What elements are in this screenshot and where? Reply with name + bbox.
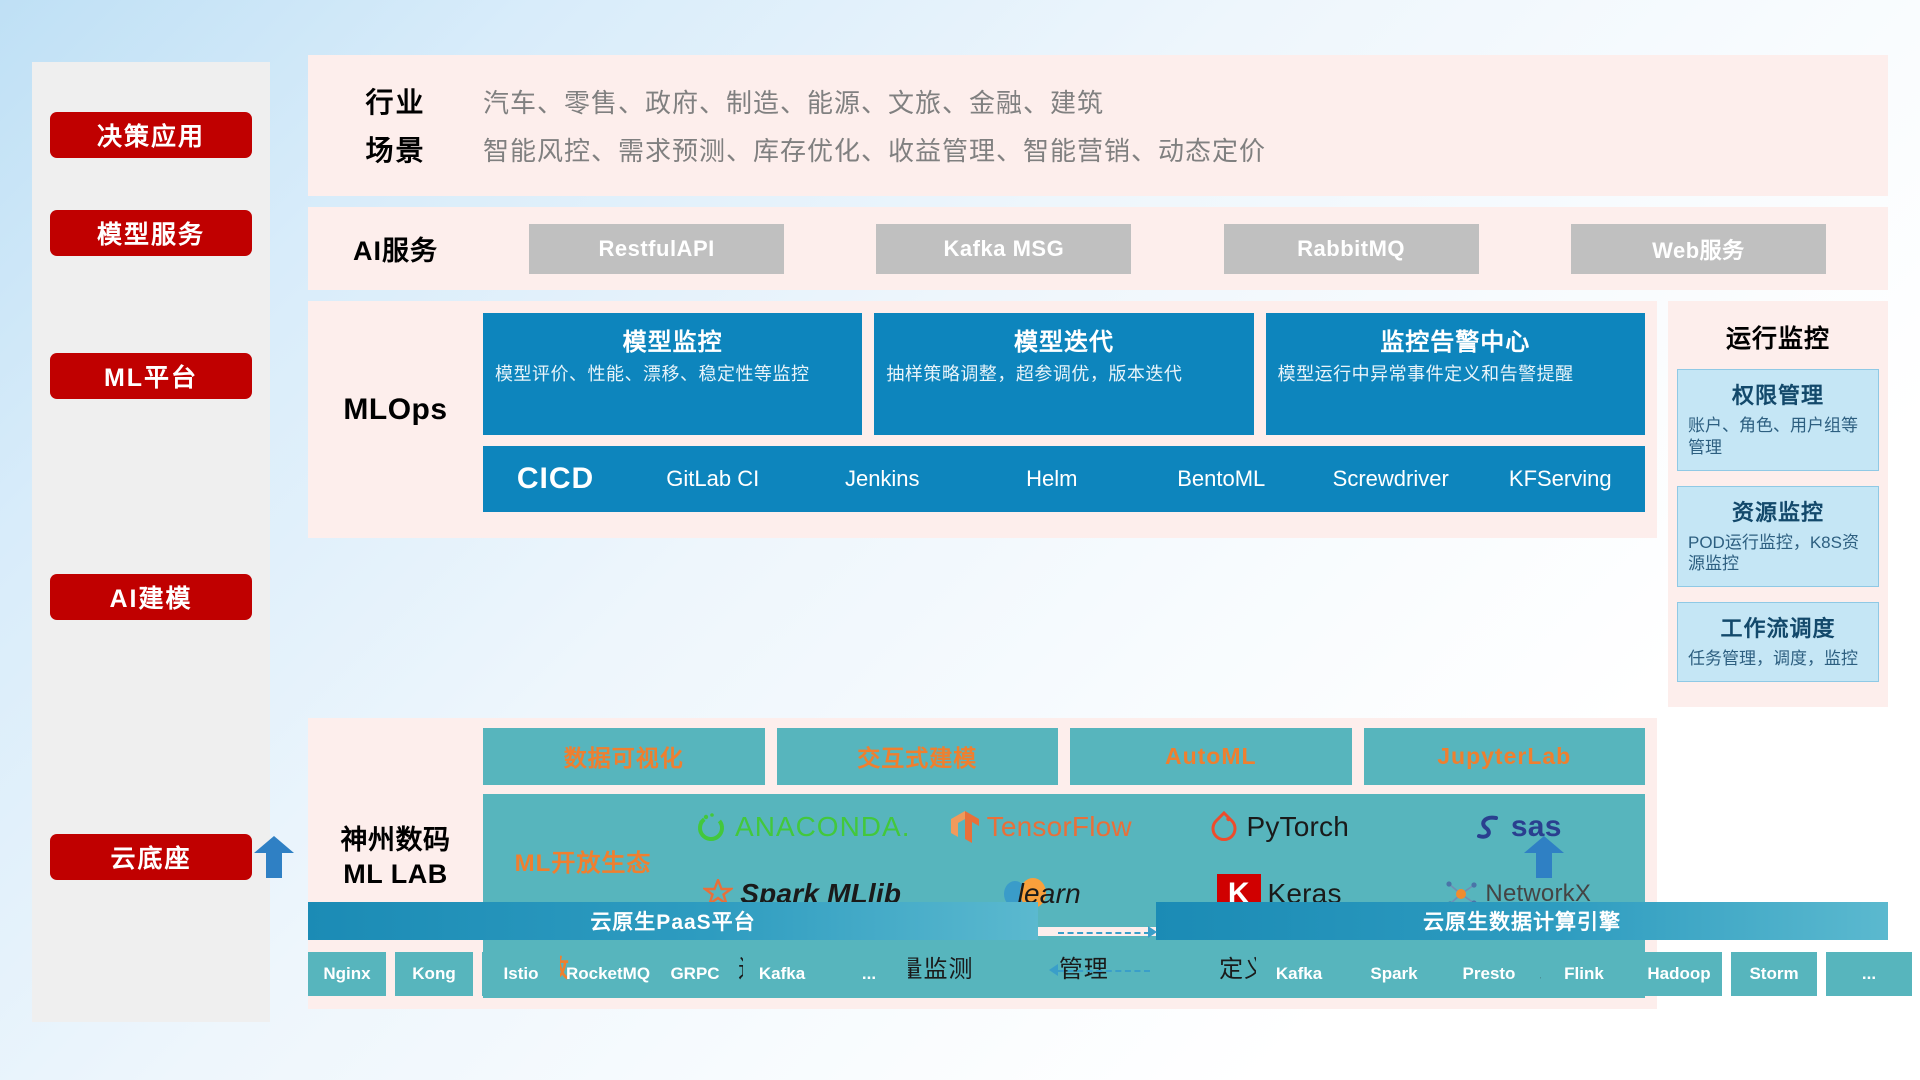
ai-service-band: AI服务 RestfulAPI Kafka MSG RabbitMQ Web服务 [308,207,1888,290]
modeling-tabs: 数据可视化 交互式建模 AutoML JupyterLab [483,728,1645,785]
decision-apps-band: 行业 汽车、零售、政府、制造、能源、文旅、金融、建筑 场景 智能风控、需求预测、… [308,55,1888,196]
card-title: 权限管理 [1688,378,1868,410]
dashed-arrow-head-left [1049,964,1058,976]
ai-service-restfulapi[interactable]: RestfulAPI [529,224,784,274]
chip-more-paas[interactable]: ... [830,952,908,996]
rail-item-label: ML平台 [104,358,198,394]
chip-spark[interactable]: Spark [1351,952,1437,996]
chip-presto[interactable]: Presto [1446,952,1532,996]
engine-chip-row: Kafka Spark Presto Flink Hadoop Storm ..… [1256,952,1912,996]
tensorflow-logo-text: TensorFlow [987,811,1132,843]
card-title: 模型迭代 [886,322,1241,357]
card-title: 监控告警中心 [1278,322,1633,357]
rail-item-model-service[interactable]: 模型服务 [50,210,252,256]
card-desc: POD运行监控，K8S资源监控 [1688,532,1868,576]
industry-label: 行业 [308,81,483,121]
scenario-values: 智能风控、需求预测、库存优化、收益管理、智能营销、动态定价 [483,131,1266,168]
sas-logo: sas [1399,810,1638,844]
ai-service-items: RestfulAPI Kafka MSG RabbitMQ Web服务 [483,224,1888,274]
chip-more-engine[interactable]: ... [1826,952,1912,996]
ml-ecosystem-label: ML开放生态 [483,843,683,878]
up-arrow-engine-to-platform [1524,836,1564,878]
industry-row: 行业 汽车、零售、政府、制造、能源、文旅、金融、建筑 [308,77,1888,125]
rail-item-label: AI建模 [109,579,192,615]
pytorch-logo-text: PyTorch [1246,811,1349,843]
mlops-row: MLOps 模型监控 模型评价、性能、漂移、稳定性等监控 模型迭代 抽样策略调整… [308,301,1888,707]
chip-storm[interactable]: Storm [1731,952,1817,996]
card-desc: 账户、角色、用户组等管理 [1688,415,1868,459]
ai-service-kafka-msg[interactable]: Kafka MSG [876,224,1131,274]
architecture-diagram: 决策应用 模型服务 ML平台 AI建模 云底座 行业 汽车、零售、政府、制造、能… [0,0,1920,1080]
pytorch-logo: PyTorch [1160,810,1399,844]
dashed-arrow-head-right [1148,926,1157,938]
rail-item-ai-modeling[interactable]: AI建模 [50,574,252,620]
chip-rocketmq[interactable]: RocketMQ [569,952,647,996]
cicd-item-jenkins[interactable]: Jenkins [798,467,968,490]
ai-service-rabbitmq[interactable]: RabbitMQ [1224,224,1479,274]
scenario-label: 场景 [308,129,483,169]
card-desc: 模型运行中异常事件定义和告警提醒 [1278,363,1633,386]
mlops-label: MLOps [308,301,483,427]
ai-service-label: AI服务 [308,229,483,268]
paas-chip-row: Nginx Kong Istio RocketMQ GRPC Kafka ... [308,952,908,996]
layer-rail: 决策应用 模型服务 ML平台 AI建模 云底座 [32,62,270,1022]
rail-item-ml-platform[interactable]: ML平台 [50,353,252,399]
rail-item-label: 决策应用 [97,117,205,153]
cicd-bar: CICD GitLab CI Jenkins Helm BentoML Scre… [483,446,1645,512]
chip-istio[interactable]: Istio [482,952,560,996]
card-title: 模型监控 [495,322,850,357]
tab-data-visualization[interactable]: 数据可视化 [483,728,765,785]
cloud-native-data-engine-bar[interactable]: 云原生数据计算引擎 [1156,902,1888,940]
runtime-monitoring-panel: 运行监控 权限管理 账户、角色、用户组等管理 资源监控 POD运行监控，K8S资… [1668,301,1888,707]
chip-nginx[interactable]: Nginx [308,952,386,996]
anaconda-logo: ANACONDA. [683,810,922,844]
tab-automl[interactable]: AutoML [1070,728,1352,785]
card-title: 资源监控 [1688,495,1868,527]
cicd-item-bentoml[interactable]: BentoML [1137,467,1307,490]
rail-item-label: 云底座 [110,839,191,875]
monitor-card-workflow[interactable]: 工作流调度 任务管理，调度，监控 [1677,602,1879,682]
chip-kafka[interactable]: Kafka [743,952,821,996]
rail-item-label: 模型服务 [97,215,205,251]
main-stack: 行业 汽车、零售、政府、制造、能源、文旅、金融、建筑 场景 智能风控、需求预测、… [308,55,1888,1009]
mlops-card-model-iteration[interactable]: 模型迭代 抽样策略调整，超参调优，版本迭代 [874,313,1253,435]
scenario-row: 场景 智能风控、需求预测、库存优化、收益管理、智能营销、动态定价 [308,125,1888,173]
cicd-label: CICD [483,462,628,496]
tab-interactive-modeling[interactable]: 交互式建模 [777,728,1059,785]
chip-grpc[interactable]: GRPC [656,952,734,996]
mlops-card-alert-center[interactable]: 监控告警中心 模型运行中异常事件定义和告警提醒 [1266,313,1645,435]
tensorflow-logo: TensorFlow [922,809,1161,845]
dashed-connector-left [1058,970,1150,972]
card-desc: 抽样策略调整，超参调优，版本迭代 [886,363,1241,386]
cicd-item-kfserving[interactable]: KFServing [1476,467,1646,490]
dashed-connector-right [1058,932,1150,934]
cicd-item-gitlab-ci[interactable]: GitLab CI [628,467,798,490]
cloud-foundation: 云原生PaaS平台 云原生数据计算引擎 Nginx Kong Istio Roc… [308,880,1888,1030]
chip-flink[interactable]: Flink [1541,952,1627,996]
anaconda-logo-text: ANACONDA. [735,811,910,843]
chip-kong[interactable]: Kong [395,952,473,996]
rail-item-decision-apps[interactable]: 决策应用 [50,112,252,158]
card-desc: 任务管理，调度，监控 [1688,648,1868,670]
industry-values: 汽车、零售、政府、制造、能源、文旅、金融、建筑 [483,83,1104,120]
chip-hadoop[interactable]: Hadoop [1636,952,1722,996]
cicd-item-helm[interactable]: Helm [967,467,1137,490]
cicd-item-screwdriver[interactable]: Screwdriver [1306,467,1476,490]
runtime-monitoring-title: 运行监控 [1677,319,1879,355]
mlops-card-model-monitoring[interactable]: 模型监控 模型评价、性能、漂移、稳定性等监控 [483,313,862,435]
ai-service-web[interactable]: Web服务 [1571,224,1826,274]
card-title: 工作流调度 [1688,611,1868,643]
ml-lab-label: 神州数码 ML LAB [308,728,483,892]
chip-kafka-engine[interactable]: Kafka [1256,952,1342,996]
card-desc: 模型评价、性能、漂移、稳定性等监控 [495,363,850,386]
tab-jupyterlab[interactable]: JupyterLab [1364,728,1646,785]
rail-item-cloud-foundation[interactable]: 云底座 [50,834,252,880]
cloud-native-paas-bar[interactable]: 云原生PaaS平台 [308,902,1038,940]
monitor-card-resources[interactable]: 资源监控 POD运行监控，K8S资源监控 [1677,486,1879,588]
up-arrow-paas-to-platform [254,836,294,878]
mlops-band: MLOps 模型监控 模型评价、性能、漂移、稳定性等监控 模型迭代 抽样策略调整… [308,301,1657,538]
monitor-card-permissions[interactable]: 权限管理 账户、角色、用户组等管理 [1677,369,1879,471]
ml-lab-label-line1: 神州数码 [308,824,483,858]
